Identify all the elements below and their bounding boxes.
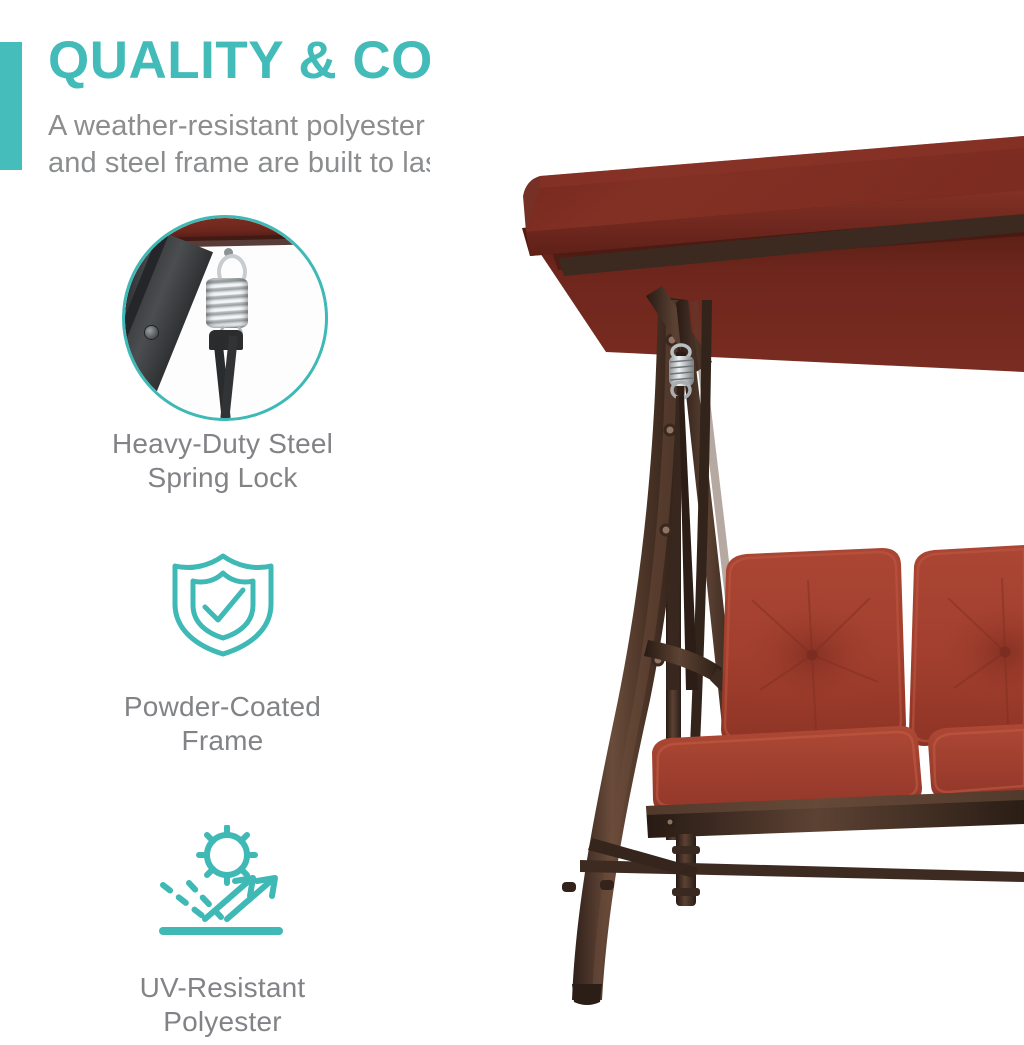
caption-line-2: Frame xyxy=(0,724,445,758)
spring-lock-photo-inset xyxy=(122,215,328,421)
feature-caption-uv-resistant-polyester: UV-Resistant Polyester xyxy=(0,971,445,1039)
feature-item-uv-resistant-polyester: UV-Resistant Polyester xyxy=(0,825,445,1045)
feature-item-spring-lock: Heavy-Duty Steel Spring Lock xyxy=(0,215,445,460)
spring-icon xyxy=(206,278,248,328)
bolt-icon xyxy=(145,326,158,339)
caption-line-1: Heavy-Duty Steel xyxy=(0,427,445,461)
shield-check-icon xyxy=(0,550,445,658)
caption-line-2: Polyester xyxy=(0,1005,445,1039)
product-photo-canopy-swing xyxy=(430,0,1024,1024)
feature-caption-spring-lock: Heavy-Duty Steel Spring Lock xyxy=(0,427,445,495)
infographic-page: QUALITY & COMFORT A weather-resistant po… xyxy=(0,0,1024,1024)
uv-sun-deflect-icon xyxy=(0,825,445,937)
caption-line-1: UV-Resistant xyxy=(0,971,445,1005)
caption-line-1: Powder-Coated xyxy=(0,690,445,724)
feature-caption-powder-coated-frame: Powder-Coated Frame xyxy=(0,690,445,758)
header-accent-bar xyxy=(0,42,22,170)
caption-line-2: Spring Lock xyxy=(0,461,445,495)
feature-item-powder-coated-frame: Powder-Coated Frame xyxy=(0,550,445,770)
feature-list: Heavy-Duty Steel Spring Lock Powder-Coat… xyxy=(0,215,445,1045)
